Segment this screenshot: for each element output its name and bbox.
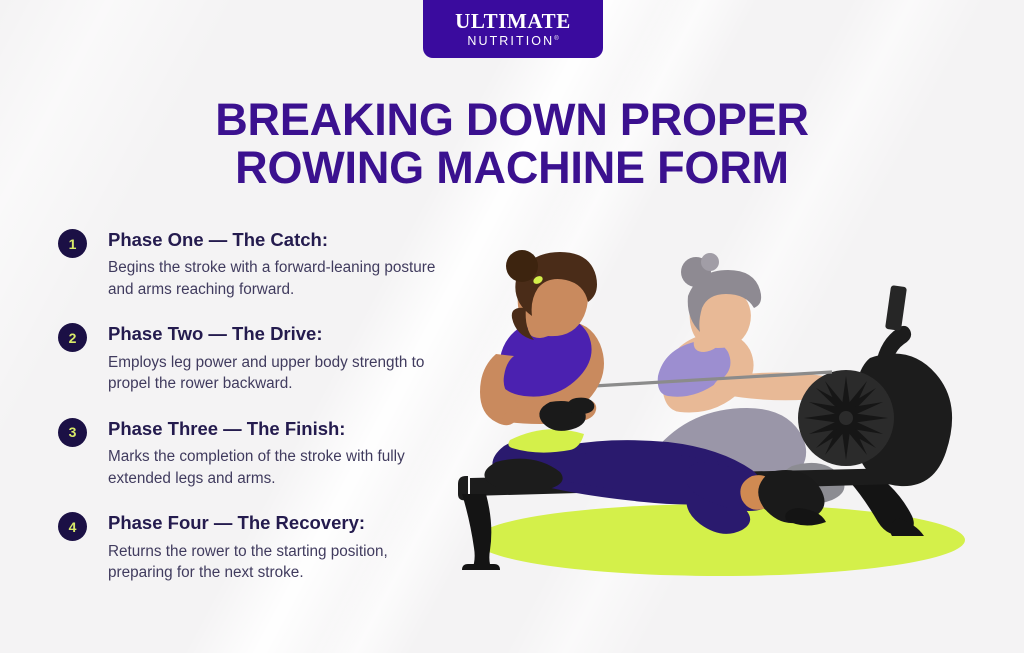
logo-nutrition-word: NUTRITION xyxy=(467,34,554,48)
phase-heading: Phase Three — The Finish: xyxy=(108,417,448,441)
brand-logo-badge: ULTIMATE NUTRITION® xyxy=(423,0,603,58)
phase-description: Returns the rower to the starting positi… xyxy=(108,541,438,584)
phase-description: Employs leg power and upper body strengt… xyxy=(108,352,438,395)
waistband xyxy=(508,429,584,452)
list-item: 3 Phase Three — The Finish: Marks the co… xyxy=(58,417,448,489)
phase-heading: Phase Two — The Drive: xyxy=(108,322,448,346)
hair-bun xyxy=(506,250,538,282)
logo-text-ultimate: ULTIMATE xyxy=(455,11,571,32)
page-title-line-1: BREAKING DOWN PROPER xyxy=(0,96,1024,144)
rowing-illustration xyxy=(400,250,1024,610)
machine-rear-leg xyxy=(462,494,492,570)
list-item: 1 Phase One — The Catch: Begins the stro… xyxy=(58,228,448,300)
phase-list: 1 Phase One — The Catch: Begins the stro… xyxy=(58,228,448,584)
phase-number-badge: 2 xyxy=(58,323,87,352)
page-title-line-2: ROWING MACHINE FORM xyxy=(0,144,1024,192)
phase-description: Begins the stroke with a forward-leaning… xyxy=(108,257,438,300)
console-screen xyxy=(885,285,907,331)
list-item: 4 Phase Four — The Recovery: Returns the… xyxy=(58,511,448,583)
page-title: BREAKING DOWN PROPER ROWING MACHINE FORM xyxy=(0,96,1024,191)
phase-number-badge: 4 xyxy=(58,512,87,541)
registered-mark: ® xyxy=(554,36,558,42)
phase-number-badge: 1 xyxy=(58,229,87,258)
list-item: 2 Phase Two — The Drive: Employs leg pow… xyxy=(58,322,448,394)
phase-heading: Phase One — The Catch: xyxy=(108,228,448,252)
logo-text-nutrition: NUTRITION® xyxy=(467,35,558,48)
flywheel-hub xyxy=(839,411,853,425)
phase-heading: Phase Four — The Recovery: xyxy=(108,511,448,535)
phase-number-badge: 3 xyxy=(58,418,87,447)
phase-description: Marks the completion of the stroke with … xyxy=(108,446,438,489)
